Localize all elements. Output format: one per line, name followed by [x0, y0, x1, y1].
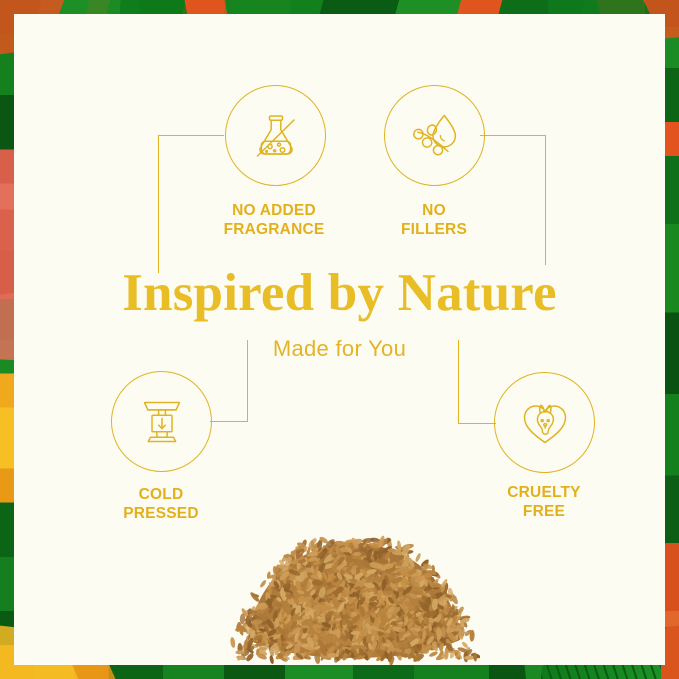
feature-label-no-fillers: NO FILLERS: [359, 202, 509, 240]
rabbit-heart-icon: [513, 391, 577, 455]
connector-top-right-horizontal: [480, 135, 546, 136]
connector-bottom-right-horizontal: [458, 423, 496, 424]
feature-badge-no-fillers: [384, 85, 485, 186]
poster: NO ADDED FRAGRANCE NO FILLERS COLD PRESS…: [0, 0, 679, 679]
press-machine-icon: [131, 391, 193, 453]
flask-no-fragrance-icon: [245, 105, 307, 167]
flax-seeds-pile: [228, 482, 480, 665]
connector-top-left-horizontal: [158, 135, 224, 136]
feature-label-cold-pressed: COLD PRESSED: [81, 486, 241, 524]
droplet-leaf-icon: [404, 105, 466, 167]
content-card: NO ADDED FRAGRANCE NO FILLERS COLD PRESS…: [14, 14, 665, 665]
feature-badge-cruelty-free: [494, 372, 595, 473]
connector-bottom-left-horizontal: [210, 421, 248, 422]
headline: Inspired by Nature: [14, 267, 665, 320]
connector-top-right-vertical: [545, 135, 546, 265]
subheadline: Made for You: [14, 336, 665, 362]
feature-label-no-added-fragrance: NO ADDED FRAGRANCE: [194, 202, 354, 240]
connector-top-left-vertical: [158, 135, 159, 273]
feature-label-cruelty-free: CRUELTY FREE: [464, 484, 624, 522]
feature-badge-no-added-fragrance: [225, 85, 326, 186]
feature-badge-cold-pressed: [111, 371, 212, 472]
